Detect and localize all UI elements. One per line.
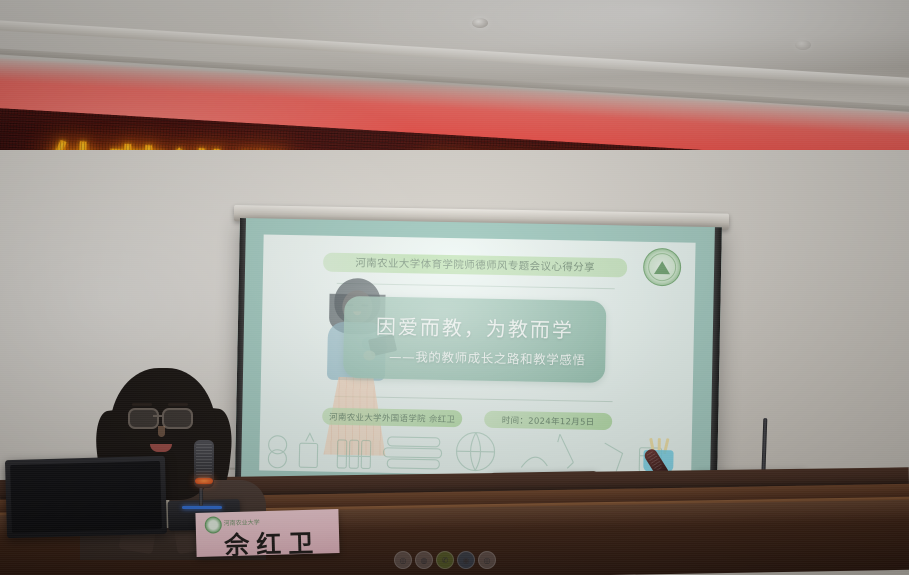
slide-header-banner: 河南农业大学体育学院师德师风专题会议心得分享: [323, 253, 627, 278]
presentation-slide: 河南农业大学体育学院师德师风专题会议心得分享: [259, 234, 695, 478]
watermark-icon-1: ◎: [394, 551, 412, 569]
laptop: [5, 456, 167, 538]
watermark-icon-5: ◎: [478, 551, 496, 569]
speaker-brow-left: [132, 403, 152, 406]
speaker-brow-right: [168, 403, 188, 406]
university-seal-icon: [643, 248, 682, 287]
seal-mountain-glyph: [654, 260, 670, 273]
ceiling-downlight: [472, 18, 488, 28]
microphone-active-indicator: [195, 478, 213, 484]
eyeglasses-left-lens: [128, 408, 159, 429]
eyeglasses-bridge: [153, 415, 162, 417]
ceiling-downlight: [795, 40, 811, 50]
nameplate-name-text: 佘红卫: [212, 523, 333, 557]
photo-scene: 体苑讲堂——师德师风专题报告会 河南农业大学体育学院师德师风专题会议心得分享: [0, 0, 909, 575]
watermark-icon-2: ◍: [415, 551, 433, 569]
nameplate: 河南农业大学 佘红卫: [195, 509, 339, 557]
watermark-icon-3: ✆: [436, 551, 454, 569]
microphone-power-led: [182, 506, 222, 509]
laptop-screen: [10, 461, 162, 533]
slide-header-text: 河南农业大学体育学院师德师风专题会议心得分享: [355, 255, 595, 275]
speaker-nose: [158, 426, 165, 437]
watermark-icon-4: ◉: [457, 551, 475, 569]
slide-doodle-strip: [259, 414, 692, 478]
slide-title: 因爱而教，为教而学: [376, 311, 575, 344]
slide-title-box: 因爱而教，为教而学 ——我的教师成长之路和教学感悟: [343, 296, 607, 383]
slide-subtitle: ——我的教师成长之路和教学感悟: [389, 346, 586, 369]
watermark-icon-row: ◎ ◍ ✆ ◉ ◎: [394, 551, 496, 569]
eyeglasses-right-lens: [162, 408, 193, 429]
